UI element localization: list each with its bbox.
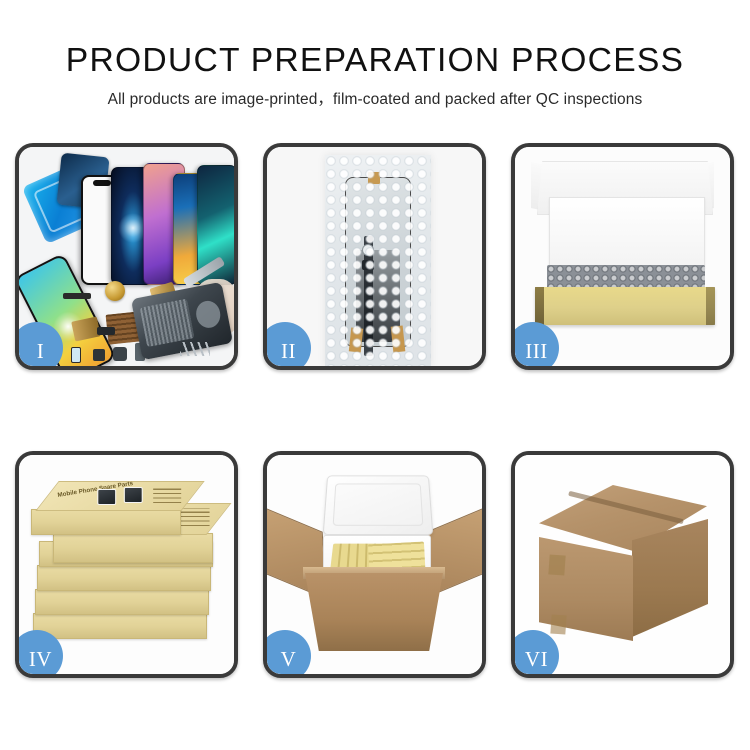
process-steps-grid: I II — [15, 143, 735, 678]
retail-box-top-top: Mobile Phone Spare Parts — [35, 481, 204, 511]
step-panel-6: VI — [511, 451, 734, 678]
step-panel-1: I — [15, 143, 238, 370]
yellow-inner-box-base — [535, 287, 715, 325]
page-subtitle: All products are image-printed，film-coat… — [0, 89, 750, 111]
retail-box-layer-4 — [35, 589, 209, 615]
retail-box-layer-1-front — [53, 533, 213, 563]
carton-tape-patch-bottom — [550, 615, 566, 635]
styrofoam-lid — [323, 475, 434, 535]
step-badge-2: II — [263, 322, 311, 370]
step-badge-1: I — [15, 322, 63, 370]
loose-screws — [180, 342, 210, 356]
part-small-module-e — [97, 327, 115, 335]
bubble-texture — [325, 155, 431, 366]
retail-box-spec-lines-1 — [180, 508, 210, 526]
step-panel-5: V — [263, 451, 486, 678]
retail-box-label-2: Mobile Phone Spare Parts — [57, 480, 133, 499]
retail-box-spec-lines-2 — [153, 486, 181, 503]
product-preparation-process-page: PRODUCT PREPARATION PROCESS All products… — [0, 0, 750, 750]
step-badge-3: III — [511, 322, 559, 370]
retail-box-top-front — [31, 509, 181, 535]
part-connector-bar — [63, 293, 91, 299]
retail-box-window-2a — [97, 489, 116, 505]
bubble-wrap-bag — [325, 155, 431, 366]
step-panel-4: Mobile Phone Spare Parts Mobile Phone Sp… — [15, 451, 238, 678]
part-small-module-c — [113, 347, 127, 361]
carton-tape-patch-top — [548, 554, 565, 575]
step-badge-4: IV — [15, 630, 63, 678]
step-panel-3: III — [511, 143, 734, 370]
retail-box-stack: Mobile Phone Spare Parts Mobile Phone Sp… — [27, 471, 233, 661]
page-title: PRODUCT PREPARATION PROCESS — [0, 38, 750, 82]
part-speaker-coin — [105, 281, 125, 301]
white-foam-sheet — [549, 197, 705, 269]
part-small-module-a — [71, 347, 81, 363]
step-badge-5: V — [263, 630, 311, 678]
part-small-module-b — [93, 349, 105, 361]
step-badge-6: VI — [511, 630, 559, 678]
step-panel-2: II — [263, 143, 486, 370]
carton-body — [305, 573, 443, 651]
retail-box-layer-5 — [33, 613, 207, 639]
page-header: PRODUCT PREPARATION PROCESS All products… — [0, 0, 750, 111]
retail-box-layer-3 — [37, 565, 211, 591]
retail-box-window-2b — [124, 487, 143, 503]
